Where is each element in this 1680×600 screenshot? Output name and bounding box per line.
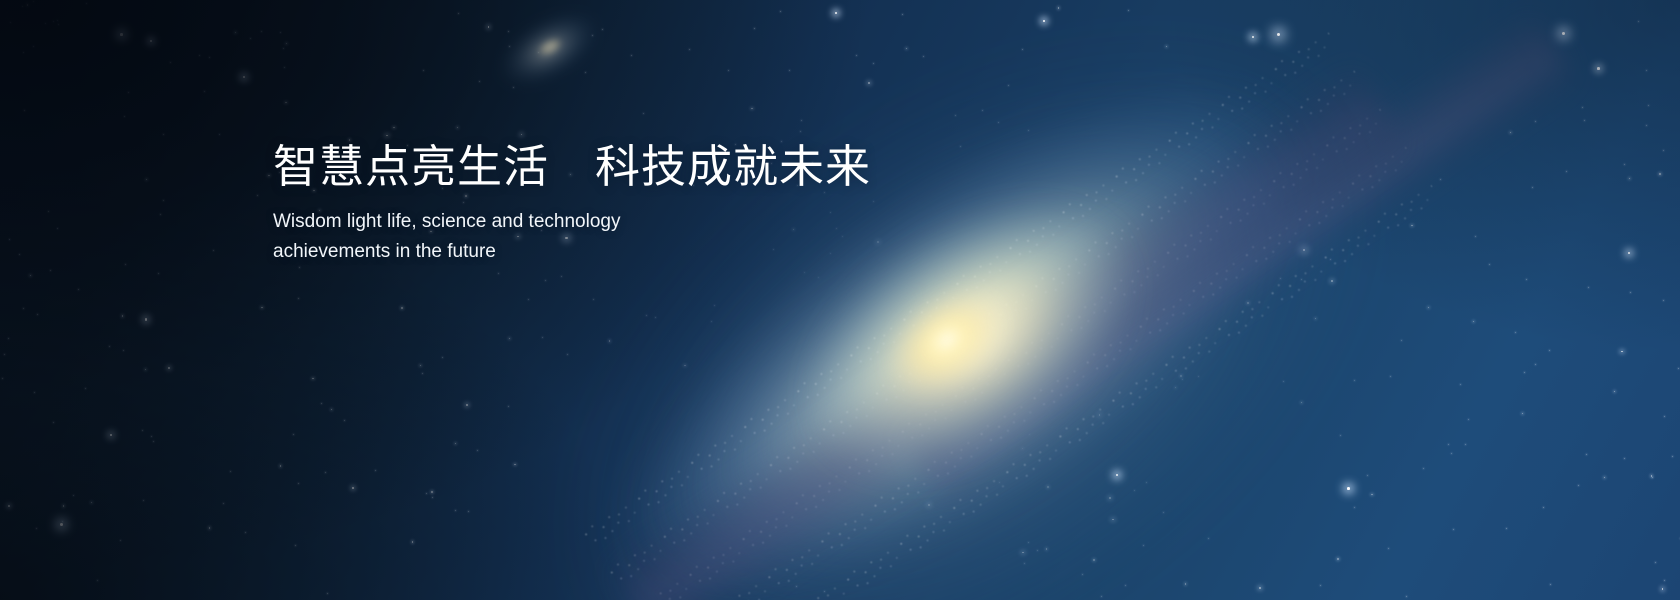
hero-banner: 智慧点亮生活 科技成就未来 Wisdom light life, science… [0, 0, 1680, 600]
banner-subtitle: Wisdom light life, science and technolog… [273, 192, 1033, 267]
banner-headline: 智慧点亮生活 科技成就未来 [273, 142, 1033, 192]
banner-subtitle-line-2: achievements in the future [273, 237, 1033, 267]
banner-subtitle-line-1: Wisdom light life, science and technolog… [273, 207, 1033, 237]
sky-vignette [0, 0, 1680, 600]
banner-text-block: 智慧点亮生活 科技成就未来 Wisdom light life, science… [273, 142, 1033, 267]
